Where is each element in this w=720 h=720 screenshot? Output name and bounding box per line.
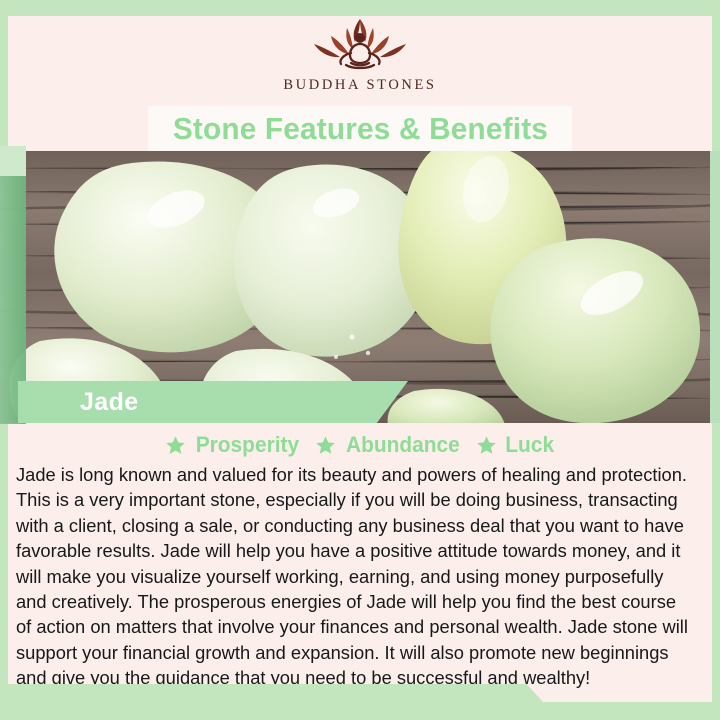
benefit-label: Prosperity bbox=[196, 432, 299, 458]
bottom-frame-strip bbox=[0, 702, 720, 720]
left-accent-notch bbox=[0, 146, 26, 176]
brand-header: BUDDHA STONES bbox=[0, 0, 720, 106]
benefit-item: Abundance bbox=[315, 432, 463, 458]
stone-name: Jade bbox=[80, 388, 139, 417]
benefit-label: Abundance bbox=[346, 432, 460, 458]
page-title: Stone Features & Benefits bbox=[172, 111, 547, 147]
star-icon bbox=[165, 435, 186, 456]
description-text: Jade is long known and valued for its be… bbox=[16, 462, 696, 691]
star-icon bbox=[315, 435, 336, 456]
stone-name-ribbon: Jade bbox=[18, 381, 408, 423]
right-green-accent bbox=[710, 151, 720, 423]
page-root: BUDDHA STONES Stone Features & Benefits bbox=[0, 0, 720, 720]
brand-name: BUDDHA STONES bbox=[283, 77, 436, 94]
benefit-item: Prosperity bbox=[165, 432, 302, 458]
benefit-label: Luck bbox=[505, 432, 554, 458]
star-icon bbox=[476, 435, 497, 456]
description-block: Jade is long known and valued for its be… bbox=[16, 462, 706, 691]
page-title-banner: Stone Features & Benefits bbox=[148, 106, 572, 151]
benefit-item: Luck bbox=[476, 432, 555, 458]
lotus-meditation-icon bbox=[299, 13, 421, 75]
benefits-row: Prosperity Abundance Luck bbox=[0, 430, 720, 460]
